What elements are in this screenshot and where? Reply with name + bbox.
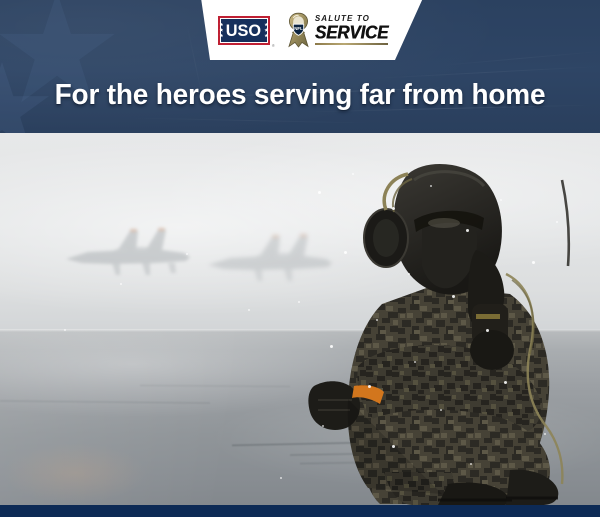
uso-salute-to-service-ad: USO ® — [0, 0, 600, 517]
footer-bar — [0, 505, 600, 517]
header-banner: USO ® — [0, 0, 600, 133]
logo-row: USO ® — [183, 0, 423, 60]
uso-logo-icon[interactable]: USO ® — [218, 16, 270, 45]
service-text: SERVICE — [315, 23, 388, 41]
nfl-salute-to-service-ribbon-icon[interactable]: NFL SALUTE TO SERVICE — [286, 12, 388, 48]
salute-rule-divider — [315, 43, 388, 45]
antenna — [562, 180, 569, 266]
f15-fighter-jet-silhouette — [58, 225, 208, 285]
camo-ribbon-icon: NFL — [286, 12, 311, 48]
uso-trademark: ® — [272, 43, 275, 48]
star-icon — [219, 23, 223, 38]
nfl-shield-label: NFL — [294, 26, 303, 31]
salute-to-service-wordmark: SALUTE TO SERVICE — [315, 15, 388, 45]
star-icon — [264, 23, 268, 38]
handset-glove — [470, 330, 514, 370]
tarmac-warm-patch — [0, 433, 170, 505]
hero-photo — [0, 133, 600, 505]
uso-wordmark: USO — [226, 22, 261, 39]
page-title: For the heroes serving far from home — [11, 79, 590, 112]
uso-logo-field: USO — [220, 18, 268, 43]
crouching-airman — [262, 154, 598, 505]
